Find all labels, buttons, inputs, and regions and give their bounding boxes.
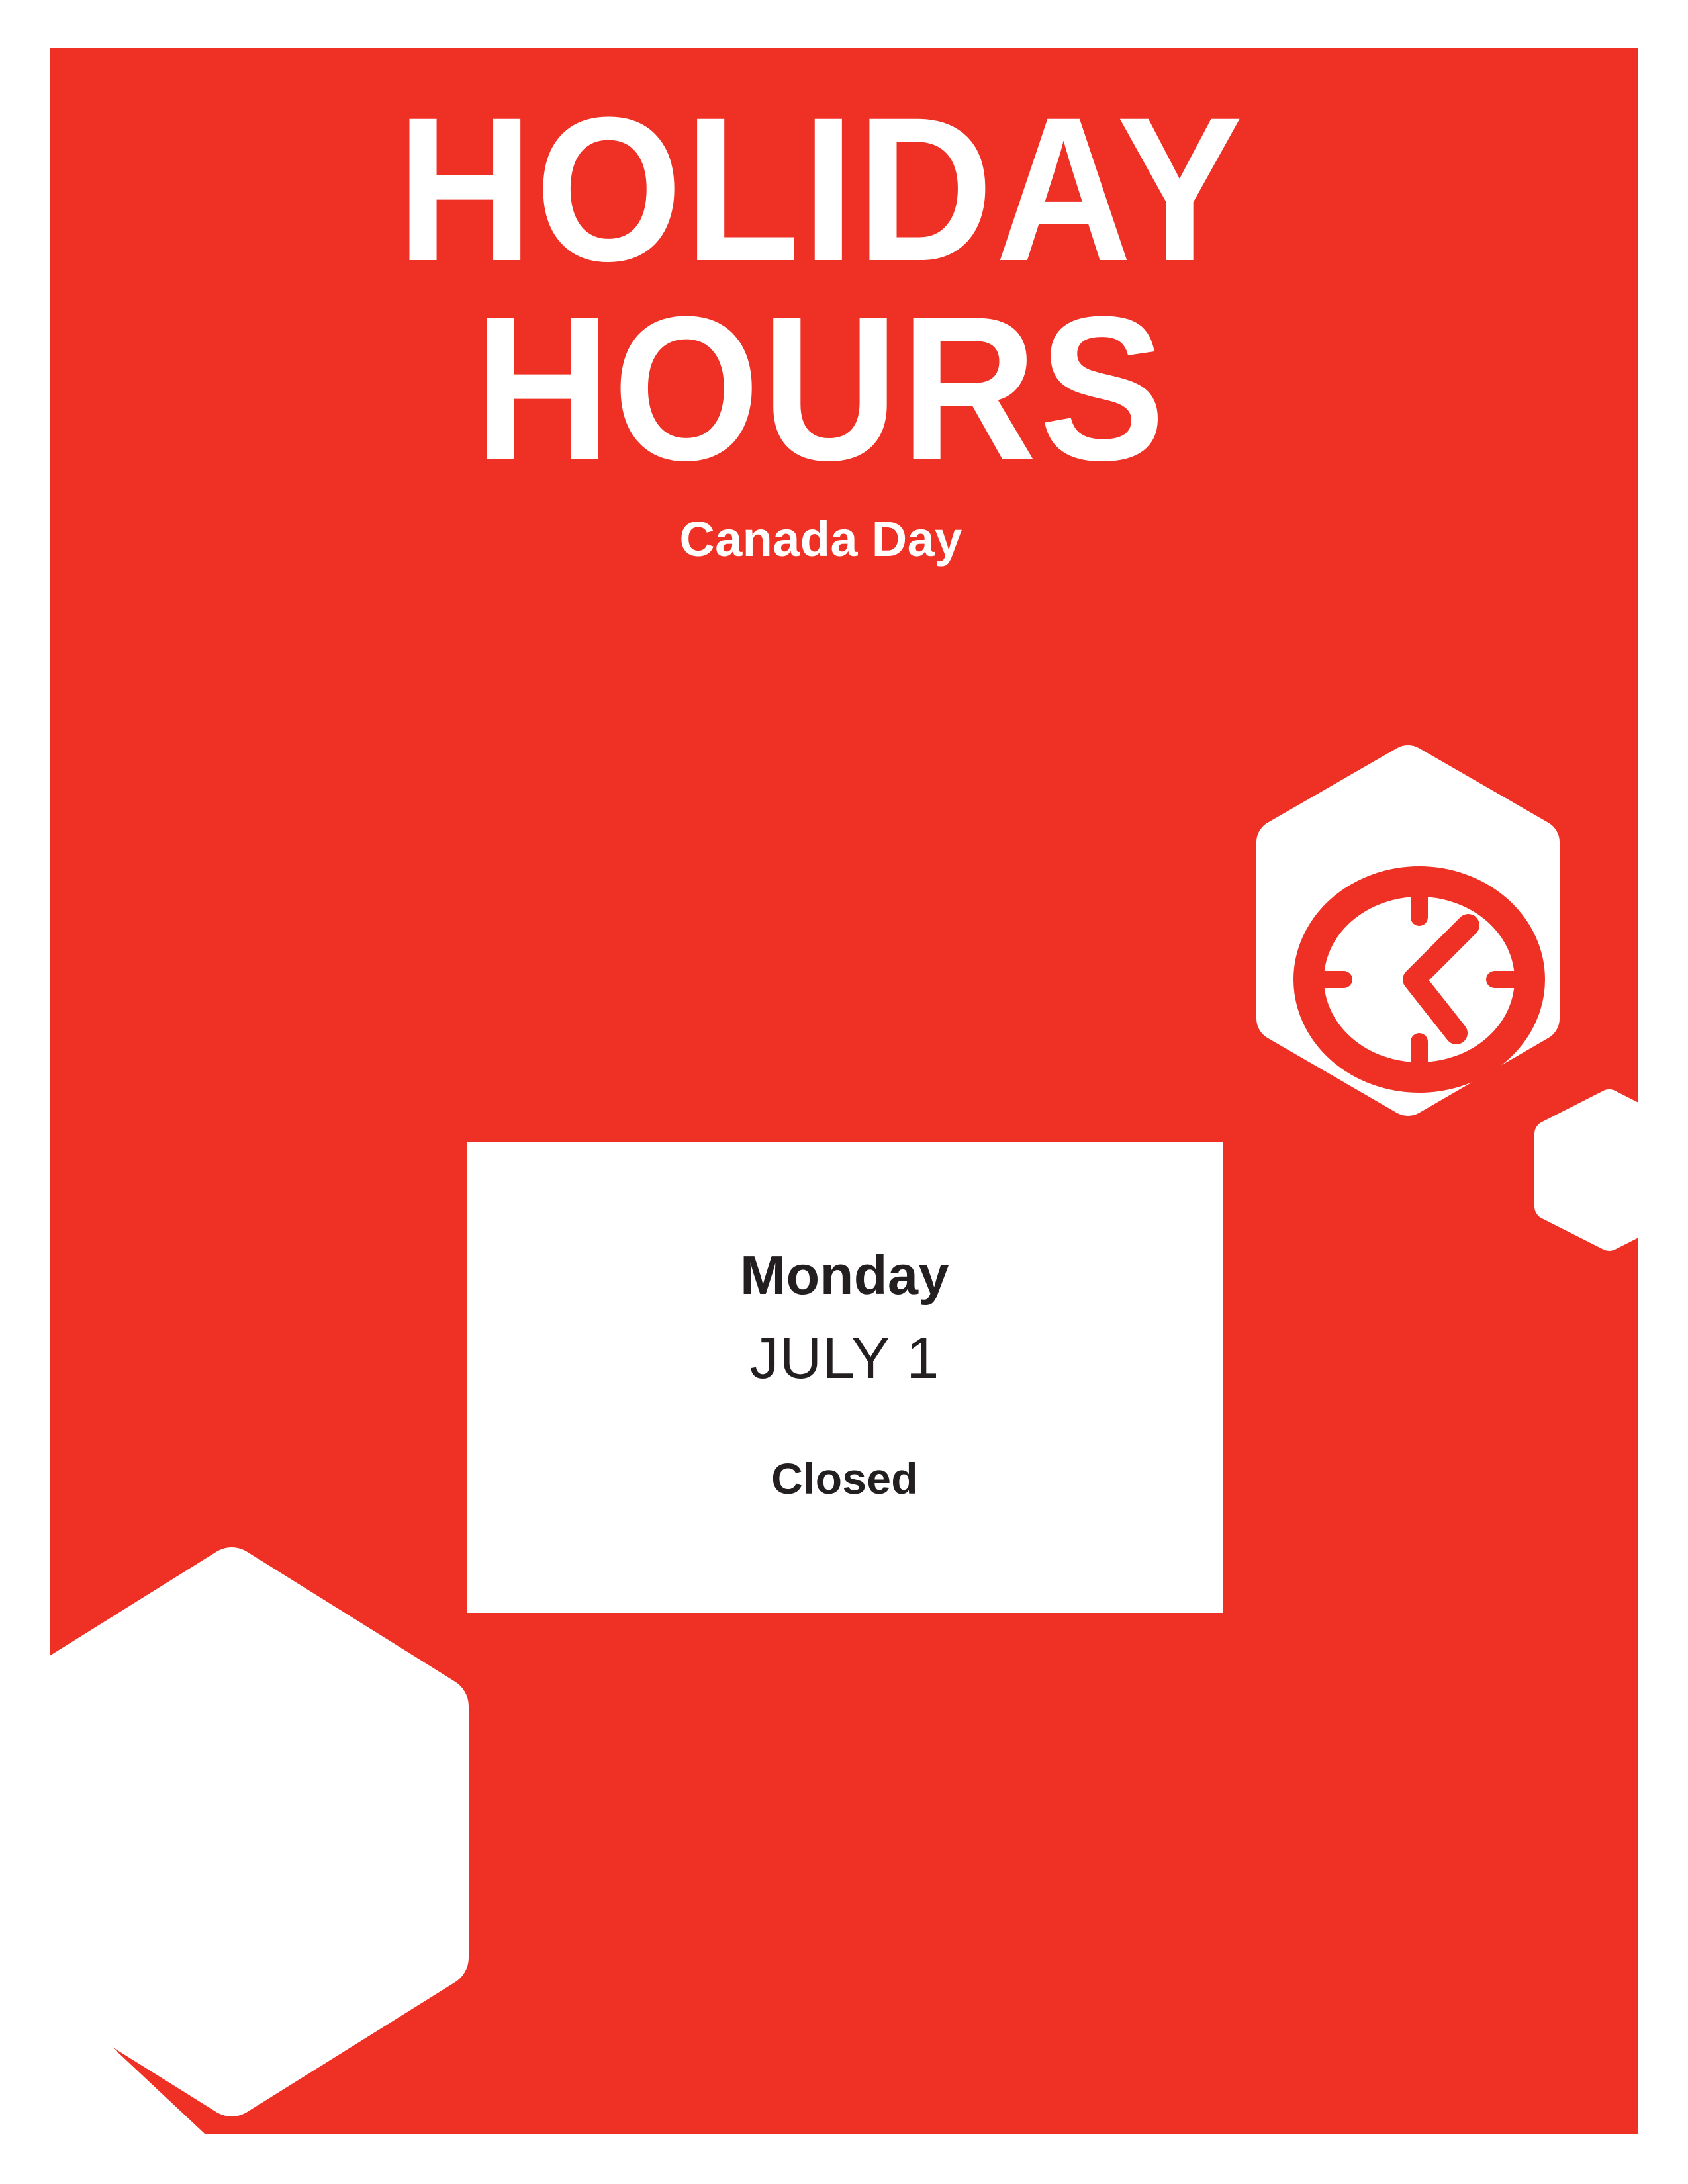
page-title-line-1: HOLIDAY [111,99,1530,280]
hexagon-accent-small [1530,1085,1688,1255]
holiday-hours-poster: HOLIDAY HOURS Canada Day [0,0,1688,2184]
hours-info-card: Monday JULY 1 Closed [467,1142,1223,1613]
poster-subtitle: Canada Day [50,512,1592,566]
status-badge: Closed [771,1457,918,1500]
clock-icon [1309,882,1530,1077]
card-day-label: Monday [740,1248,949,1302]
card-date-label: JULY 1 [750,1329,940,1387]
hexagon-badge [1250,740,1566,1121]
page-title-line-2: HOURS [111,298,1530,479]
poster-headline: HOLIDAY HOURS Canada Day [50,99,1592,566]
hexagon-accent-large [0,1541,483,2123]
